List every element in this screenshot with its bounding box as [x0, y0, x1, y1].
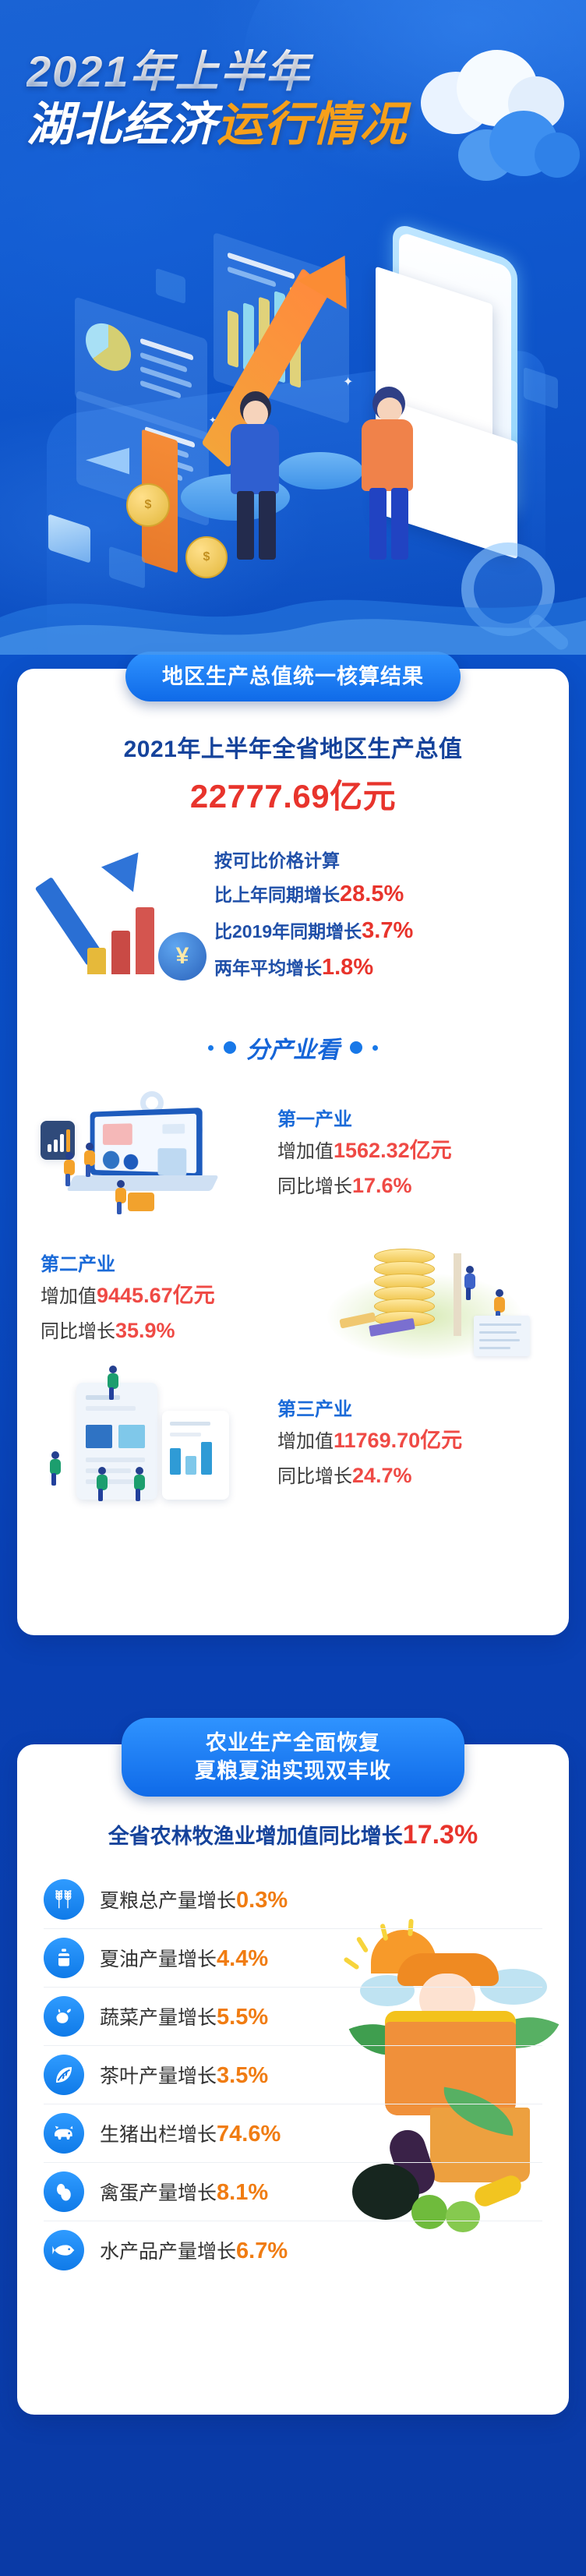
fish-icon	[44, 2230, 84, 2270]
egg-icon	[44, 2171, 84, 2212]
industry-tertiary-growth: 24.7%	[352, 1464, 412, 1487]
agri-value-5: 8.1%	[217, 2180, 268, 2205]
coins-ladder-illustration	[319, 1231, 545, 1362]
gdp-growth-2019-label: 比2019年同期增长	[214, 921, 362, 942]
list-item: 禽蛋产量增长8.1%	[44, 2163, 542, 2221]
list-item-text: 水产品产量增长6.7%	[100, 2236, 288, 2264]
industry-primary-growth-line: 同比增长17.6%	[277, 1171, 545, 1200]
gdp-growth-lines: 按可比价格计算 比上年同期增长28.5% 比2019年同期增长3.7% 两年平均…	[211, 846, 542, 985]
list-item-text: 蔬菜产量增长5.5%	[100, 2002, 268, 2030]
gdp-growth-2019-value: 3.7%	[362, 918, 413, 943]
agri-value-6: 6.7%	[236, 2239, 288, 2263]
gdp-value: 22777.69亿元	[17, 770, 569, 818]
industry-tertiary-growth-label: 同比增长	[277, 1466, 352, 1487]
industry-secondary-name: 第二产业	[41, 1249, 309, 1276]
agri-label-3: 茶叶产量增长	[100, 2065, 217, 2087]
pig-icon	[44, 2113, 84, 2154]
sparkle-icon-2: ✦	[209, 415, 217, 426]
agri-value-1: 4.4%	[217, 1946, 268, 1971]
agri-label-6: 水产品产量增长	[100, 2241, 236, 2263]
divider-dot-small-right	[372, 1045, 378, 1051]
agri-value-3: 3.5%	[217, 2063, 268, 2088]
agriculture-items-list: 夏粮总产量增长0.3% 夏油产量增长4.4% 蔬	[17, 1871, 569, 2279]
industry-secondary-growth: 35.9%	[115, 1319, 175, 1342]
industry-tertiary-value: 11769.70亿元	[334, 1429, 462, 1452]
gdp-growth-2yr-value: 1.8%	[322, 955, 373, 980]
list-item-text: 夏油产量增长4.4%	[100, 1944, 268, 1972]
gdp-title: 2021年上半年全省地区生产总值	[17, 730, 569, 764]
gdp-growth-2yr-avg: 两年平均增长1.8%	[214, 949, 542, 986]
list-item: 茶叶产量增长3.5%	[44, 2046, 542, 2104]
industry-secondary-value: 9445.67亿元	[97, 1284, 215, 1307]
industry-block-primary: 第一产业 增加值1562.32亿元 同比增长17.6%	[17, 1085, 569, 1219]
mobile-dashboard-illustration	[41, 1376, 267, 1507]
yuan-coin-icon: ¥	[158, 932, 207, 981]
divider-dot-small-left	[208, 1045, 214, 1051]
cloud-blue-icon	[454, 109, 578, 187]
oil-bottle-icon	[44, 1938, 84, 1978]
sparkle-icon-1: ✦	[343, 374, 353, 390]
hero-title-orange-part: 运行情况	[217, 98, 407, 150]
gdp-growth-yoy: 比上年同期增长28.5%	[214, 876, 542, 913]
list-item: 夏粮总产量增长0.3%	[44, 1871, 542, 1929]
industry-secondary-value-label: 增加值	[41, 1286, 97, 1307]
industry-tertiary-growth-line: 同比增长24.7%	[277, 1461, 545, 1490]
divider-dot-large-left	[224, 1041, 236, 1054]
hero-title-white-part: 湖北经济	[26, 98, 217, 150]
hero-title-subject: 湖北经济运行情况	[26, 98, 407, 150]
agri-value-4: 74.6%	[217, 2122, 281, 2147]
industry-block-secondary: 第二产业 增加值9445.67亿元 同比增长35.9%	[17, 1230, 569, 1364]
list-item: 蔬菜产量增长5.5%	[44, 1988, 542, 2046]
industry-secondary-growth-line: 同比增长35.9%	[41, 1316, 309, 1345]
secondary-board	[162, 1411, 229, 1500]
list-item-text: 夏粮总产量增长0.3%	[100, 1885, 288, 1913]
document-sheet	[474, 1316, 530, 1356]
industry-tertiary-text: 第三产业 增加值11769.70亿元 同比增长24.7%	[277, 1394, 545, 1490]
infographic-page: 2021年上半年 湖北经济运行情况	[0, 0, 586, 2576]
industry-row-primary: 第一产业 增加值1562.32亿元 同比增长17.6%	[41, 1085, 545, 1219]
agriculture-headline-value: 17.3%	[403, 1820, 478, 1850]
industry-row-tertiary: 第三产业 增加值11769.70亿元 同比增长24.7%	[41, 1375, 545, 1509]
agri-label-4: 生猪出栏增长	[100, 2124, 217, 2146]
person-left-analyst	[228, 391, 290, 563]
industry-primary-value-line: 增加值1562.32亿元	[277, 1136, 545, 1165]
industry-primary-value-label: 增加值	[277, 1141, 334, 1162]
industry-tertiary-value-label: 增加值	[277, 1431, 334, 1452]
industry-secondary-growth-label: 同比增长	[41, 1321, 115, 1342]
agriculture-card: 全省农林牧渔业增加值同比增长17.3%	[17, 1744, 569, 2415]
gdp-growth-yoy-label: 比上年同期增长	[214, 885, 340, 905]
agriculture-headline-label: 全省农林牧渔业增加值同比增长	[108, 1825, 403, 1848]
vegetable-icon	[44, 1996, 84, 2037]
industry-primary-growth: 17.6%	[352, 1174, 412, 1197]
tea-leaf-icon	[44, 2055, 84, 2095]
list-item-text: 禽蛋产量增长8.1%	[100, 2178, 268, 2206]
industry-primary-name: 第一产业	[277, 1104, 545, 1131]
divider-dot-large-right	[350, 1041, 362, 1054]
hero-title-block: 2021年上半年 湖北经济运行情况	[26, 48, 407, 151]
section-gdp-title-pill: 地区生产总值统一核算结果	[125, 652, 461, 701]
industry-tertiary-value-line: 增加值11769.70亿元	[277, 1426, 545, 1455]
gdp-bar-chart-illustration: ¥	[44, 844, 211, 988]
agri-value-0: 0.3%	[236, 1888, 288, 1913]
hero-wave-divider	[0, 563, 586, 655]
agri-label-2: 蔬菜产量增长	[100, 2007, 217, 2029]
bar-chart-bars	[87, 907, 154, 974]
ladder-icon	[454, 1253, 461, 1336]
industry-divider: 分产业看	[17, 1030, 569, 1065]
industry-primary-value: 1562.32亿元	[334, 1139, 452, 1162]
gdp-growth-row: ¥ 按可比价格计算 比上年同期增长28.5% 比2019年同期增长3.7% 两年…	[17, 844, 569, 988]
industry-tertiary-name: 第三产业	[277, 1394, 545, 1421]
wheat-icon	[44, 1879, 84, 1920]
cube-decor-3	[156, 268, 185, 304]
industry-primary-growth-label: 同比增长	[277, 1176, 352, 1197]
list-item-text: 生猪出栏增长74.6%	[100, 2119, 281, 2147]
list-item: 水产品产量增长6.7%	[44, 2221, 542, 2279]
industry-secondary-text: 第二产业 增加值9445.67亿元 同比增长35.9%	[41, 1249, 309, 1345]
agri-label-0: 夏粮总产量增长	[100, 1890, 236, 1912]
cylinder-small	[277, 452, 363, 489]
industry-row-secondary: 第二产业 增加值9445.67亿元 同比增长35.9%	[41, 1230, 545, 1364]
agri-value-2: 5.5%	[217, 2005, 268, 2030]
industry-divider-label: 分产业看	[246, 1030, 340, 1065]
gdp-card: 2021年上半年全省地区生产总值 22777.69亿元 ¥ 按可比价格计算	[17, 669, 569, 1635]
section-gdp: 2021年上半年全省地区生产总值 22777.69亿元 ¥ 按可比价格计算	[0, 669, 586, 1635]
section-agriculture: 全省农林牧渔业增加值同比增长17.3%	[0, 1744, 586, 2415]
hero-banner: 2021年上半年 湖北经济运行情况	[0, 0, 586, 655]
list-item: 生猪出栏增长74.6%	[44, 2104, 542, 2163]
industry-block-tertiary: 第三产业 增加值11769.70亿元 同比增长24.7%	[17, 1375, 569, 1509]
gdp-growth-2yr-label: 两年平均增长	[214, 958, 322, 978]
person-right-presenter	[360, 387, 422, 563]
list-item-text: 茶叶产量增长3.5%	[100, 2061, 268, 2089]
laptop-illustration	[41, 1087, 267, 1217]
dashboard-board	[76, 1383, 157, 1500]
list-item: 夏油产量增长4.4%	[44, 1929, 542, 1988]
industry-secondary-value-line: 增加值9445.67亿元	[41, 1281, 309, 1310]
industry-primary-text: 第一产业 增加值1562.32亿元 同比增长17.6%	[277, 1104, 545, 1200]
gdp-growth-yoy-value: 28.5%	[340, 882, 404, 906]
coin-stack-icon	[126, 483, 170, 527]
gdp-growth-2019: 比2019年同期增长3.7%	[214, 913, 542, 949]
section-agriculture-title-pill: 农业生产全面恢复 夏粮夏油实现双丰收	[122, 1718, 464, 1797]
agriculture-headline: 全省农林牧渔业增加值同比增长17.3%	[17, 1819, 569, 1850]
gdp-basis-note: 按可比价格计算	[214, 846, 542, 875]
agri-label-1: 夏油产量增长	[100, 1949, 217, 1970]
hero-title-year: 2021年上半年	[26, 48, 407, 95]
agri-label-5: 禽蛋产量增长	[100, 2182, 217, 2204]
